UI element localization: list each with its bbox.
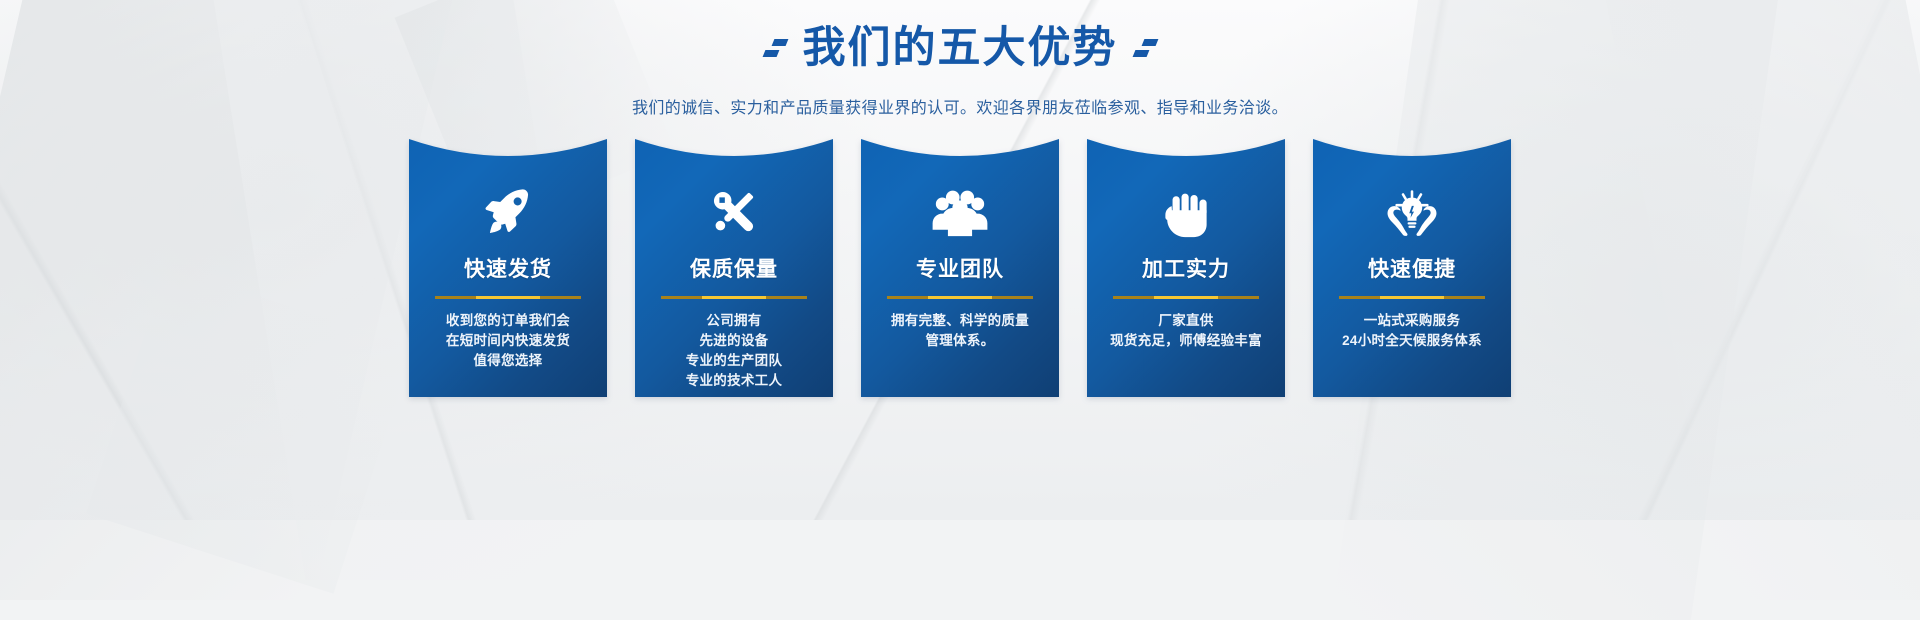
diagonal-dashes-icon	[1134, 39, 1157, 57]
card-body: 拥有完整、科学的质量 管理体系。	[891, 311, 1029, 351]
card-body: 公司拥有 先进的设备 专业的生产团队 专业的技术工人	[686, 311, 783, 391]
wrench-screwdriver-icon	[706, 183, 762, 241]
card-title: 保质保量	[690, 253, 778, 283]
card-title: 加工实力	[1142, 253, 1230, 283]
card-body: 收到您的订单我们会 在短时间内快速发货 值得您选择	[446, 311, 570, 371]
card-body: 厂家直供 现货充足，师傅经验丰富	[1110, 311, 1262, 351]
advantage-card[interactable]: 快速发货 收到您的订单我们会 在短时间内快速发货 值得您选择	[409, 139, 607, 397]
card-divider	[887, 296, 1033, 299]
card-body-line: 现货充足，师傅经验丰富	[1110, 331, 1262, 351]
advantage-card[interactable]: 保质保量 公司拥有 先进的设备 专业的生产团队 专业的技术工人	[635, 139, 833, 397]
card-body-line: 拥有完整、科学的质量	[891, 311, 1029, 331]
card-title: 快速发货	[464, 253, 552, 283]
card-divider	[661, 296, 807, 299]
section-header: 我们的五大优势 我们的诚信、实力和产品质量获得业界的认可。欢迎各界朋友莅临参观、…	[0, 0, 1920, 118]
advantage-card[interactable]: 专业团队 拥有完整、科学的质量 管理体系。	[861, 139, 1059, 397]
advantage-card[interactable]: 加工实力 厂家直供 现货充足，师傅经验丰富	[1087, 139, 1285, 397]
people-group-icon	[931, 183, 989, 241]
rocket-icon	[480, 183, 536, 241]
card-body-line: 24小时全天候服务体系	[1342, 331, 1482, 351]
card-body-line: 先进的设备	[686, 331, 783, 351]
card-divider	[1113, 296, 1259, 299]
card-title: 专业团队	[916, 253, 1004, 283]
title-row: 我们的五大优势	[0, 12, 1920, 84]
diagonal-dashes-icon	[764, 39, 787, 57]
card-body-line: 值得您选择	[446, 351, 570, 371]
card-body-line: 公司拥有	[686, 311, 783, 331]
lightbulb-in-hands-icon	[1383, 183, 1441, 241]
card-body-line: 收到您的订单我们会	[446, 311, 570, 331]
advantage-card[interactable]: 快速便捷 一站式采购服务 24小时全天候服务体系	[1313, 139, 1511, 397]
card-divider	[435, 296, 581, 299]
page-subtitle: 我们的诚信、实力和产品质量获得业界的认可。欢迎各界朋友莅临参观、指导和业务洽谈。	[0, 94, 1920, 118]
advantage-card-list: 快速发货 收到您的订单我们会 在短时间内快速发货 值得您选择	[0, 139, 1920, 397]
card-title: 快速便捷	[1368, 253, 1456, 283]
card-body-line: 在短时间内快速发货	[446, 331, 570, 351]
fist-icon	[1160, 183, 1212, 241]
card-body-line: 专业的生产团队	[686, 351, 783, 371]
card-body-line: 专业的技术工人	[686, 371, 783, 391]
card-body-line: 厂家直供	[1110, 311, 1262, 331]
card-body-line: 管理体系。	[891, 331, 1029, 351]
card-body-line: 一站式采购服务	[1342, 311, 1482, 331]
card-divider	[1339, 296, 1485, 299]
card-body: 一站式采购服务 24小时全天候服务体系	[1342, 311, 1482, 351]
page-title: 我们的五大优势	[803, 27, 1118, 70]
